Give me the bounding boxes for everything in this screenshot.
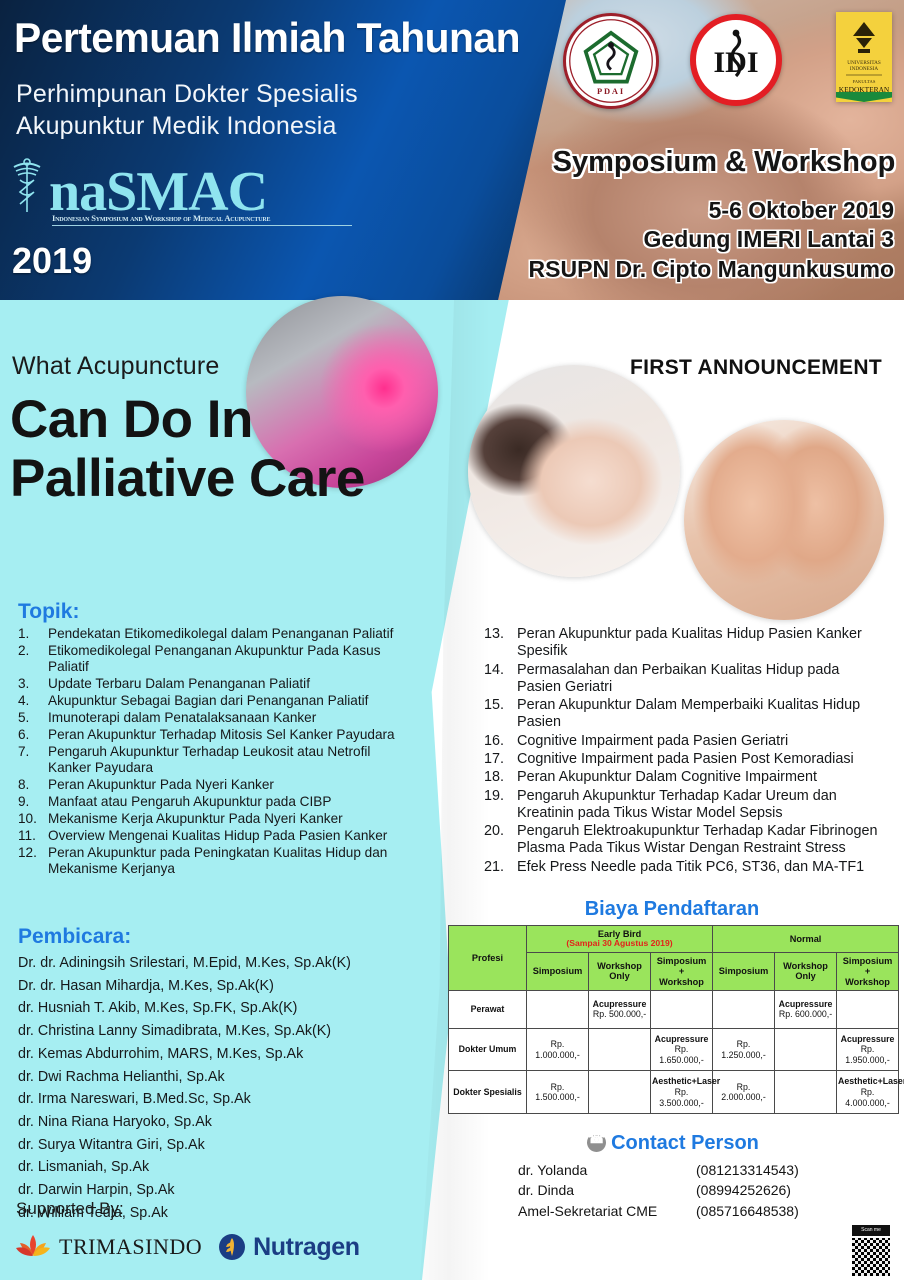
- pricing-cell: [775, 1071, 837, 1114]
- pricing-body: PerawatAcupressureRp. 500.000,-Acupressu…: [449, 990, 899, 1113]
- idi-logo: IDI: [690, 14, 782, 106]
- nasmac-wordmark: naSMAC: [49, 168, 267, 216]
- topic-item: 1.Pendekatan Etikomedikolegal dalam Pena…: [18, 626, 404, 642]
- topic-text: Pendekatan Etikomedikolegal dalam Penang…: [48, 626, 393, 641]
- topic-item: 10.Mekanisme Kerja Akupunktur Pada Nyeri…: [18, 811, 404, 827]
- speaker-item: dr. Lismaniah, Sp.Ak: [18, 1156, 418, 1179]
- contact-heading-text: Contact Person: [611, 1132, 759, 1154]
- pricing-subcol-2: WorkshopOnly: [589, 952, 651, 990]
- topic-number: 18.: [484, 769, 510, 786]
- topic-number: 19.: [484, 788, 510, 805]
- topic-number: 21.: [484, 859, 510, 876]
- topic-text: Mekanisme Kerja Akupunktur Pada Nyeri Ka…: [48, 811, 343, 826]
- acupressure-fingers-photo: [684, 420, 884, 620]
- topic-text: Cognitive Impairment pada Pasien Post Ke…: [517, 751, 854, 767]
- topic-number: 2.: [18, 643, 44, 659]
- pricing-cell-label: Acupressure: [776, 999, 835, 1010]
- topic-item: 7.Pengaruh Akupunktur Terhadap Leukosit …: [18, 744, 404, 776]
- sponsor-trimasindo: TRIMASINDO: [14, 1232, 202, 1262]
- organization-line-1: Perhimpunan Dokter Spesialis: [16, 78, 358, 110]
- sponsor-nutragen: Nutragen: [218, 1233, 360, 1262]
- poster-root: Pertemuan Ilmiah Tahunan Perhimpunan Dok…: [0, 0, 904, 1280]
- pricing-cell-label: Acupressure: [652, 1034, 711, 1045]
- topic-item: 4.Akupunktur Sebagai Bagian dari Penanga…: [18, 693, 404, 709]
- pricing-subcol-4: Simposium: [713, 952, 775, 990]
- first-announcement-badge: FIRST ANNOUNCEMENT: [630, 356, 882, 380]
- topic-text: Pengaruh Akupunktur Terhadap Leukosit at…: [48, 744, 370, 775]
- theme-kicker: What Acupuncture: [12, 352, 220, 381]
- topic-text: Peran Akupunktur Dalam Memperbaiki Kuali…: [517, 697, 860, 730]
- pricing-cell-price: Rp. 600.000,-: [779, 1009, 832, 1019]
- topic-number: 7.: [18, 744, 44, 760]
- organization-subtitle: Perhimpunan Dokter Spesialis Akupunktur …: [16, 78, 358, 142]
- speaker-item: dr. Husniah T. Akib, M.Kes, Sp.FK, Sp.Ak…: [18, 997, 418, 1020]
- sponsor-trimasindo-name: TRIMASINDO: [59, 1234, 202, 1260]
- nasmac-tagline: Indonesian Symposium and Workshop of Med…: [52, 213, 352, 226]
- svg-text:INDONESIA: INDONESIA: [850, 66, 878, 72]
- pricing-group-normal: Normal: [713, 926, 899, 953]
- topics-heading: Topik:: [18, 600, 404, 624]
- contact-name: Amel-Sekretariat CME: [518, 1201, 696, 1221]
- pricing-row: PerawatAcupressureRp. 500.000,-Acupressu…: [449, 990, 899, 1028]
- topic-item: 11.Overview Mengenai Kualitas Hidup Pada…: [18, 828, 404, 844]
- theme-headline: Can Do In Palliative Care: [10, 390, 430, 509]
- pricing-subcol-3: Simposium+Workshop: [651, 952, 713, 990]
- svg-text:KEDOKTERAN: KEDOKTERAN: [839, 85, 890, 94]
- early-bird-note: (Sampai 30 Agustus 2019): [528, 939, 711, 949]
- topic-item: 5.Imunoterapi dalam Penatalaksanaan Kank…: [18, 710, 404, 726]
- topic-number: 17.: [484, 751, 510, 768]
- contact-row: Amel-Sekretariat CME(085716648538): [518, 1201, 878, 1221]
- topic-text: Pengaruh Elektroakupunktur Terhadap Kada…: [517, 823, 878, 856]
- pricing-cell: [775, 1028, 837, 1071]
- pricing-group-early-bird: Early Bird (Sampai 30 Agustus 2019): [527, 926, 713, 953]
- event-type: Symposium & Workshop: [552, 146, 896, 179]
- topic-text: Peran Akupunktur Dalam Cognitive Impairm…: [517, 769, 817, 785]
- speakers-heading: Pembicara:: [18, 925, 418, 949]
- pricing-cell: Rp. 1.250.000,-: [713, 1028, 775, 1071]
- speaker-item: dr. Dwi Rachma Helianthi, Sp.Ak: [18, 1066, 418, 1089]
- pricing-profesi-cell: Perawat: [449, 990, 527, 1028]
- topic-text: Update Terbaru Dalam Penanganan Paliatif: [48, 676, 310, 691]
- pricing-cell: AcupressureRp. 500.000,-: [589, 990, 651, 1028]
- pricing-cell: Rp. 1.500.000,-: [527, 1071, 589, 1114]
- pricing-subcol-5: WorkshopOnly: [775, 952, 837, 990]
- venue-line-2: RSUPN Dr. Cipto Mangunkusumo: [474, 255, 894, 284]
- pricing-subcol-1: Simposium: [527, 952, 589, 990]
- pricing-cell: AcupressureRp. 600.000,-: [775, 990, 837, 1028]
- contact-row: dr. Yolanda(081213314543): [518, 1160, 878, 1180]
- contact-list: dr. Yolanda(081213314543)dr. Dinda(08994…: [518, 1160, 878, 1221]
- caduceus-icon: [6, 158, 48, 216]
- pricing-cell: Rp. 2.000.000,-: [713, 1071, 775, 1114]
- topic-item: 15.Peran Akupunktur Dalam Memperbaiki Ku…: [484, 697, 884, 732]
- topic-number: 20.: [484, 823, 510, 840]
- topic-text: Manfaat atau Pengaruh Akupunktur pada CI…: [48, 794, 331, 809]
- topic-item: 18.Peran Akupunktur Dalam Cognitive Impa…: [484, 769, 884, 786]
- pricing-title: Biaya Pendaftaran: [448, 898, 896, 921]
- theme-headline-line-2: Palliative Care: [10, 449, 430, 508]
- lotus-icon: [14, 1232, 52, 1262]
- pricing-cell-label: Aesthetic+Laser: [838, 1076, 897, 1087]
- topic-number: 10.: [18, 811, 44, 827]
- pricing-header-group-row: Profesi Early Bird (Sampai 30 Agustus 20…: [449, 926, 899, 953]
- pricing-row: Dokter UmumRp. 1.000.000,-AcupressureRp.…: [449, 1028, 899, 1071]
- event-date: 5-6 Oktober 2019: [474, 196, 894, 225]
- speaker-item: dr. Irma Nareswari, B.Med.Sc, Sp.Ak: [18, 1088, 418, 1111]
- page-title: Pertemuan Ilmiah Tahunan: [14, 14, 520, 62]
- topic-number: 8.: [18, 777, 44, 793]
- speaker-item: dr. Kemas Abdurrohim, MARS, M.Kes, Sp.Ak: [18, 1043, 418, 1066]
- topic-number: 14.: [484, 662, 510, 679]
- venue-line-1: Gedung IMERI Lantai 3: [474, 225, 894, 254]
- pricing-cell: [527, 990, 589, 1028]
- nasmac-logo: naSMAC Indonesian Symposium and Workshop…: [6, 158, 352, 226]
- topic-item: 6.Peran Akupunktur Terhadap Mitosis Sel …: [18, 727, 404, 743]
- pricing-cell-label: Acupressure: [590, 999, 649, 1010]
- topic-number: 9.: [18, 794, 44, 810]
- topic-text: Etikomedikolegal Penanganan Akupunktur P…: [48, 643, 381, 674]
- topics-right-column: 13.Peran Akupunktur pada Kualitas Hidup …: [484, 624, 884, 877]
- poster-header: Pertemuan Ilmiah Tahunan Perhimpunan Dok…: [0, 0, 904, 300]
- topic-item: 12.Peran Akupunktur pada Peningkatan Kua…: [18, 845, 404, 877]
- event-year: 2019: [12, 240, 92, 282]
- topic-item: 21.Efek Press Needle pada Titik PC6, ST3…: [484, 859, 884, 876]
- wheat-circle-icon: [218, 1233, 246, 1261]
- topic-item: 17.Cognitive Impairment pada Pasien Post…: [484, 751, 884, 768]
- svg-text:FAKULTAS: FAKULTAS: [853, 79, 876, 84]
- pricing-cell-label: Aesthetic+Laser: [652, 1076, 711, 1087]
- pdai-logo: PDAI: [563, 13, 659, 109]
- contact-row: dr. Dinda(08994252626): [518, 1180, 878, 1200]
- topic-item: 13.Peran Akupunktur pada Kualitas Hidup …: [484, 626, 884, 661]
- pricing-table: Profesi Early Bird (Sampai 30 Agustus 20…: [448, 925, 899, 1114]
- speaker-item: dr. Nina Riana Haryoko, Sp.Ak: [18, 1111, 418, 1134]
- topic-number: 6.: [18, 727, 44, 743]
- pricing-row: Dokter SpesialisRp. 1.500.000,-Aesthetic…: [449, 1071, 899, 1114]
- topic-text: Imunoterapi dalam Penatalaksanaan Kanker: [48, 710, 316, 725]
- phone-icon: [587, 1133, 606, 1152]
- topic-text: Overview Mengenai Kualitas Hidup Pada Pa…: [48, 828, 387, 843]
- organization-line-2: Akupunktur Medik Indonesia: [16, 110, 358, 142]
- pricing-profesi-cell: Dokter Umum: [449, 1028, 527, 1071]
- contact-phone[interactable]: (08994252626): [696, 1180, 791, 1200]
- pricing-cell-price: Rp. 1.650.000,-: [659, 1044, 704, 1065]
- contact-name: dr. Yolanda: [518, 1160, 696, 1180]
- topic-item: 20.Pengaruh Elektroakupunktur Terhadap K…: [484, 823, 884, 858]
- pricing-cell: Rp. 1.000.000,-: [527, 1028, 589, 1071]
- pricing-cell-price: Rp. 1.500.000,-: [535, 1082, 580, 1103]
- topic-text: Akupunktur Sebagai Bagian dari Penangana…: [48, 693, 368, 708]
- pricing-cell-price: Rp. 2.000.000,-: [721, 1082, 766, 1103]
- speaker-item: dr. Surya Witantra Giri, Sp.Ak: [18, 1134, 418, 1157]
- pricing-cell: Aesthetic+LaserRp. 3.500.000,-: [651, 1071, 713, 1114]
- topic-number: 4.: [18, 693, 44, 709]
- speaker-item: dr. Christina Lanny Simadibrata, M.Kes, …: [18, 1020, 418, 1043]
- topic-item: 8.Peran Akupunktur Pada Nyeri Kanker: [18, 777, 404, 793]
- topics-list-right: 13.Peran Akupunktur pada Kualitas Hidup …: [484, 626, 884, 876]
- speaker-item: Dr. dr. Hasan Mihardja, M.Kes, Sp.Ak(K): [18, 975, 418, 998]
- topic-text: Peran Akupunktur pada Peningkatan Kualit…: [48, 845, 387, 876]
- pricing-cell: [651, 990, 713, 1028]
- pricing-cell: AcupressureRp. 1.650.000,-: [651, 1028, 713, 1071]
- pricing-cell: [589, 1028, 651, 1071]
- contact-name: dr. Dinda: [518, 1180, 696, 1200]
- svg-text:PDAI: PDAI: [597, 86, 625, 96]
- topic-text: Pengaruh Akupunktur Terhadap Kadar Ureum…: [517, 788, 837, 821]
- topic-item: 9.Manfaat atau Pengaruh Akupunktur pada …: [18, 794, 404, 810]
- speakers-section: Pembicara: Dr. dr. Adiningsih Srilestari…: [18, 925, 418, 1225]
- pricing-cell: AcupressureRp. 1.950.000,-: [837, 1028, 899, 1071]
- pricing-cell-price: Rp. 500.000,-: [593, 1009, 646, 1019]
- topic-text: Peran Akupunktur Terhadap Mitosis Sel Ka…: [48, 727, 395, 742]
- pricing-cell: [713, 990, 775, 1028]
- topic-text: Peran Akupunktur Pada Nyeri Kanker: [48, 777, 274, 792]
- topic-text: Peran Akupunktur pada Kualitas Hidup Pas…: [517, 626, 862, 659]
- topic-number: 13.: [484, 626, 510, 643]
- speaker-item: Dr. dr. Adiningsih Srilestari, M.Epid, M…: [18, 952, 418, 975]
- pricing-cell-label: Acupressure: [838, 1034, 897, 1045]
- contact-phone[interactable]: (085716648538): [696, 1201, 799, 1221]
- sponsor-nutragen-name: Nutragen: [253, 1233, 360, 1262]
- pricing-col-profesi: Profesi: [449, 926, 527, 991]
- pricing-profesi-cell: Dokter Spesialis: [449, 1071, 527, 1114]
- topic-number: 5.: [18, 710, 44, 726]
- pricing-cell-price: Rp. 1.250.000,-: [721, 1039, 766, 1060]
- topic-text: Cognitive Impairment pada Pasien Geriatr…: [517, 733, 788, 749]
- topic-number: 1.: [18, 626, 44, 642]
- topic-item: 2.Etikomedikolegal Penanganan Akupunktur…: [18, 643, 404, 675]
- theme-headline-line-1: Can Do In: [10, 390, 430, 449]
- qr-scan-label: Scan me: [852, 1225, 890, 1236]
- qr-code[interactable]: [852, 1238, 890, 1276]
- topic-text: Permasalahan dan Perbaikan Kualitas Hidu…: [517, 662, 839, 695]
- topic-item: 3.Update Terbaru Dalam Penanganan Paliat…: [18, 676, 404, 692]
- pricing-cell-price: Rp. 3.500.000,-: [659, 1087, 704, 1108]
- topic-number: 11.: [18, 828, 44, 844]
- topic-number: 15.: [484, 697, 510, 714]
- topic-text: Efek Press Needle pada Titik PC6, ST36, …: [517, 859, 864, 875]
- speakers-list: Dr. dr. Adiningsih Srilestari, M.Epid, M…: [18, 952, 418, 1225]
- supported-by-label: Supported By:: [16, 1199, 124, 1219]
- pricing-cell: [837, 990, 899, 1028]
- sponsor-logos: TRIMASINDO Nutragen: [14, 1232, 360, 1262]
- topic-item: 19.Pengaruh Akupunktur Terhadap Kadar Ur…: [484, 788, 884, 823]
- contact-heading: Contact Person: [448, 1132, 898, 1155]
- pricing-cell: Aesthetic+LaserRp. 4.000.000,-: [837, 1071, 899, 1114]
- universitas-indonesia-logo: UNIVERSITAS INDONESIA FAKULTAS KEDOKTERA…: [836, 12, 892, 102]
- pricing-cell-price: Rp. 1.950.000,-: [845, 1044, 890, 1065]
- pricing-cell-price: Rp. 1.000.000,-: [535, 1039, 580, 1060]
- pricing-subcol-6: Simposium+Workshop: [837, 952, 899, 990]
- topic-number: 16.: [484, 733, 510, 750]
- topic-item: 14.Permasalahan dan Perbaikan Kualitas H…: [484, 662, 884, 697]
- pricing-cell-price: Rp. 4.000.000,-: [845, 1087, 890, 1108]
- topic-number: 3.: [18, 676, 44, 692]
- event-details: 5-6 Oktober 2019 Gedung IMERI Lantai 3 R…: [474, 196, 894, 284]
- facial-acupuncture-photo: [468, 365, 680, 577]
- topic-number: 12.: [18, 845, 44, 861]
- topic-item: 16.Cognitive Impairment pada Pasien Geri…: [484, 733, 884, 750]
- topics-list-left: 1.Pendekatan Etikomedikolegal dalam Pena…: [18, 626, 404, 877]
- contact-phone[interactable]: (081213314543): [696, 1160, 799, 1180]
- topics-left-column: Topik: 1.Pendekatan Etikomedikolegal dal…: [18, 600, 404, 878]
- pricing-cell: [589, 1071, 651, 1114]
